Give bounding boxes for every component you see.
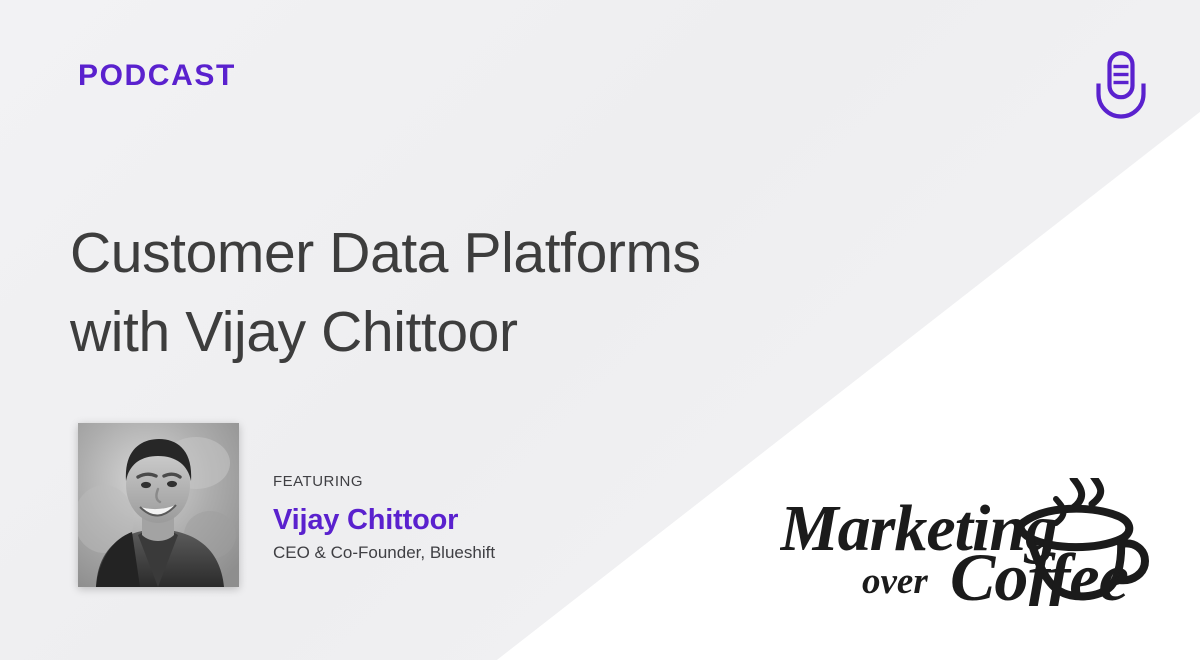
brand-word-coffee: Coffee (950, 539, 1128, 606)
title-line-1: Customer Data Platforms (70, 214, 870, 293)
title-line-2: with Vijay Chittoor (70, 293, 870, 372)
coffee-cup-icon (1056, 478, 1101, 523)
marketing-over-coffee-logo: Marketing over Coffee (780, 478, 1160, 606)
guest-avatar (78, 423, 239, 587)
page-title: Customer Data Platforms with Vijay Chitt… (70, 214, 870, 371)
guest-name: Vijay Chittoor (273, 505, 495, 537)
podcast-eyebrow-label: PODCAST (78, 61, 236, 91)
featuring-block: FEATURING Vijay Chittoor CEO & Co-Founde… (273, 474, 495, 563)
featuring-label: FEATURING (273, 474, 495, 489)
guest-role: CEO & Co-Founder, Blueshift (273, 544, 495, 563)
microphone-icon (1090, 50, 1152, 124)
brand-word-over: over (862, 561, 928, 602)
podcast-episode-card: PODCAST Customer Data Platforms with Vij… (0, 0, 1200, 660)
